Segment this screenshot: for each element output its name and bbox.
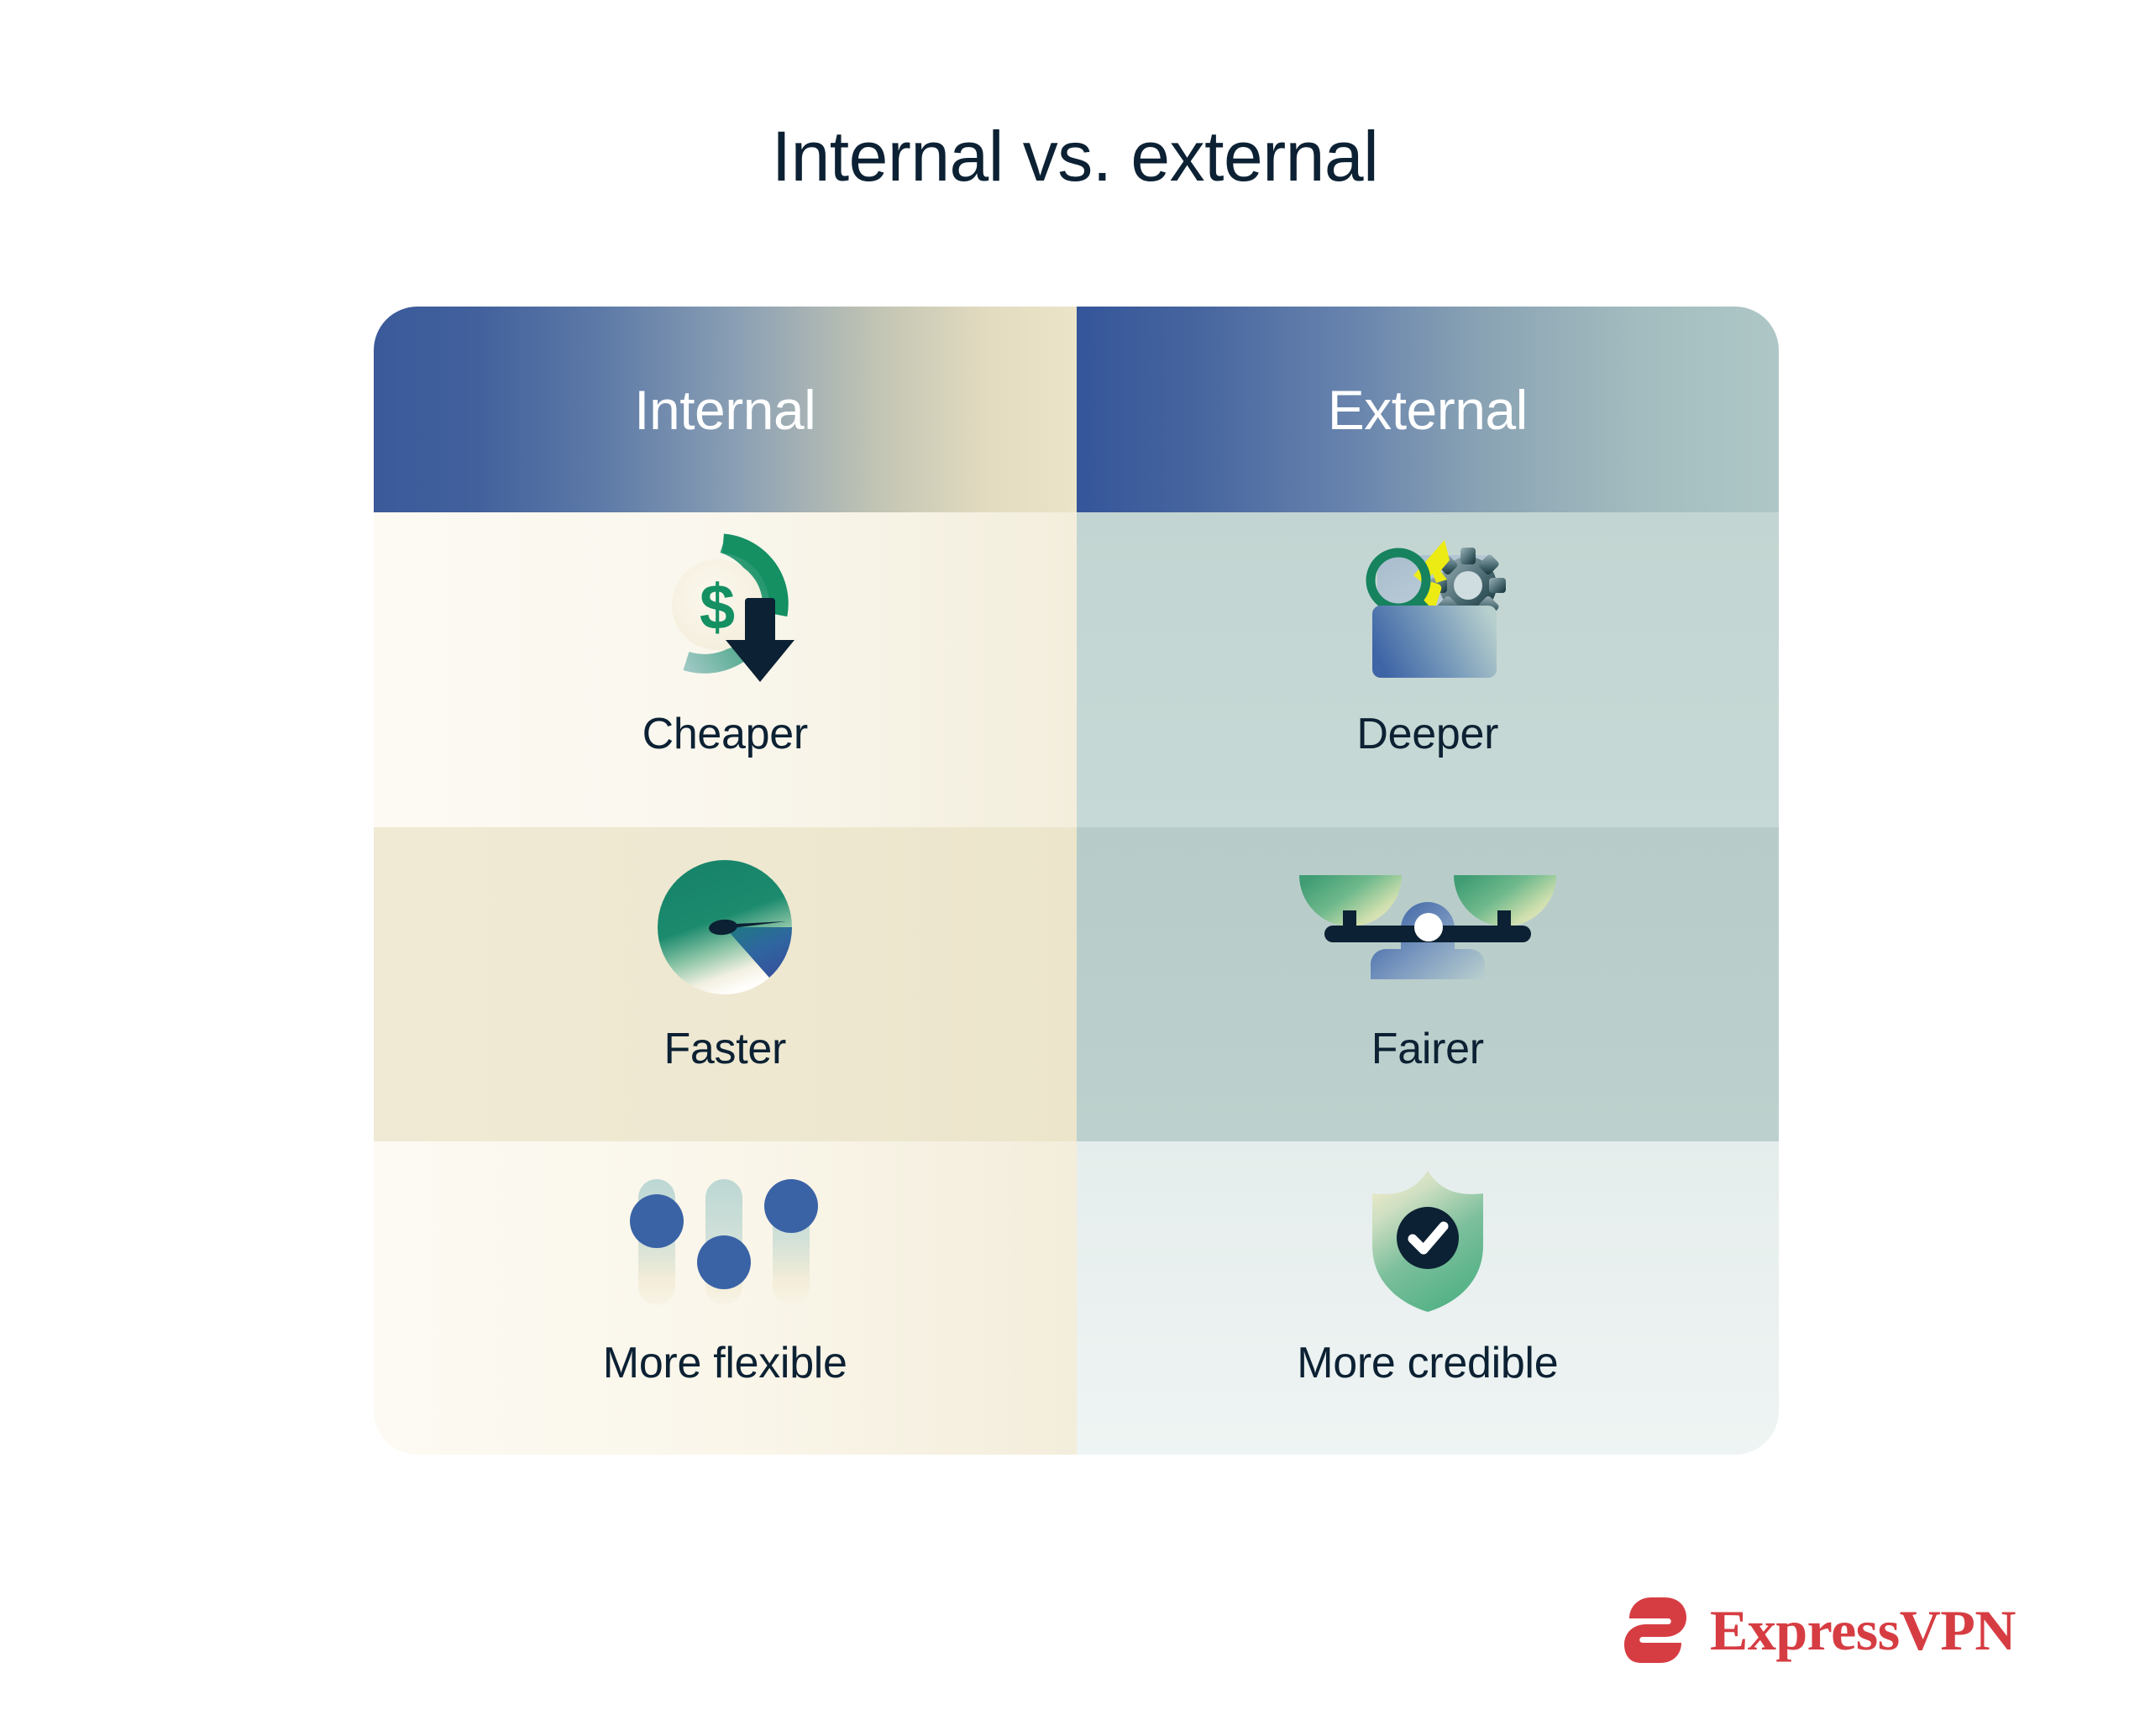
cell-label: Cheaper [642, 712, 808, 756]
speedometer-gauge-icon [374, 827, 1077, 1027]
cell-internal-cheaper: $ Cheaper [374, 512, 1077, 827]
cell-external-more-credible: More credible [1077, 1141, 1780, 1455]
page-title: Internal vs. external [0, 118, 2150, 195]
column-internal: Internal [374, 307, 1077, 1455]
toolbox-tools-icon [1077, 512, 1780, 712]
cell-internal-faster: Faster [374, 827, 1077, 1141]
infographic-page: Internal vs. external Internal [0, 0, 2150, 1736]
money-down-arrow-icon: $ [374, 512, 1077, 712]
comparison-card: Internal [374, 307, 1779, 1455]
cell-label: Faster [663, 1027, 786, 1071]
expressvpn-logo-icon [1623, 1596, 1688, 1665]
svg-text:$: $ [700, 572, 735, 643]
balance-scale-icon [1077, 827, 1780, 1027]
cell-label: More flexible [603, 1341, 847, 1385]
sliders-icon [374, 1141, 1077, 1341]
cell-external-deeper: Deeper [1077, 512, 1780, 827]
column-header-internal: Internal [374, 307, 1077, 512]
cell-label: More credible [1297, 1341, 1558, 1385]
cell-internal-more-flexible: More flexible [374, 1141, 1077, 1455]
expressvpn-wordmark: ExpressVPN [1710, 1602, 2016, 1659]
expressvpn-logo: ExpressVPN [1623, 1596, 2016, 1665]
column-external: External [1077, 307, 1780, 1455]
cell-label: Deeper [1356, 712, 1498, 756]
shield-check-icon [1077, 1141, 1780, 1341]
column-header-external: External [1077, 307, 1780, 512]
cell-label: Fairer [1371, 1027, 1484, 1071]
cell-external-fairer: Fairer [1077, 827, 1780, 1141]
